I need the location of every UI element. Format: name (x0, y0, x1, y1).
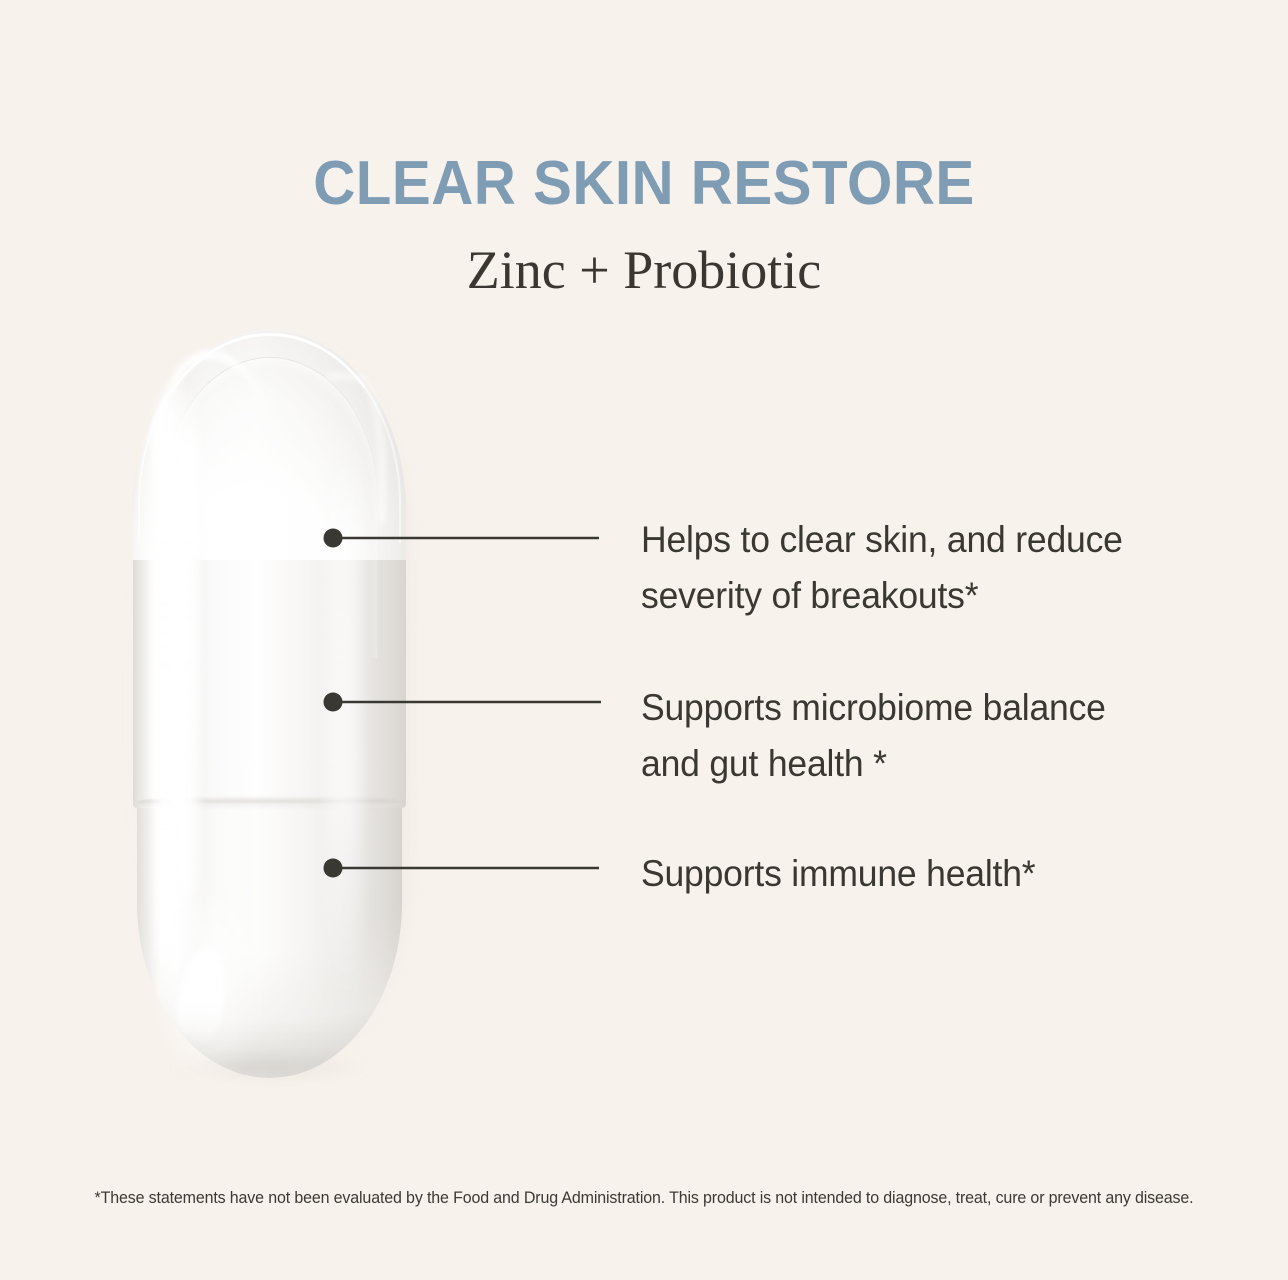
benefit-line: Supports immune health* (641, 846, 1217, 902)
benefit-item: Supports microbiome balance and gut heal… (641, 680, 1217, 792)
fda-disclaimer: *These statements have not been evaluate… (19, 1186, 1268, 1210)
benefit-item: Helps to clear skin, and reduce severity… (641, 512, 1217, 624)
capsule-illustration (131, 328, 407, 1080)
benefit-item: Supports immune health* (641, 846, 1217, 902)
benefit-line: and gut health * (641, 736, 1217, 792)
page-subtitle: Zinc + Probiotic (0, 238, 1288, 302)
page-title: CLEAR SKIN RESTORE (39, 148, 1250, 220)
capsule-sheen-right (327, 448, 361, 1008)
benefit-line: Helps to clear skin, and reduce (641, 512, 1217, 568)
product-infographic: CLEAR SKIN RESTORE Zinc + Probiotic (0, 0, 1288, 1280)
benefit-line: severity of breakouts* (641, 568, 1217, 624)
benefit-line: Supports microbiome balance (641, 680, 1217, 736)
capsule-contact-shadow (171, 1054, 371, 1080)
capsule-highlight-dome-right (327, 374, 385, 524)
